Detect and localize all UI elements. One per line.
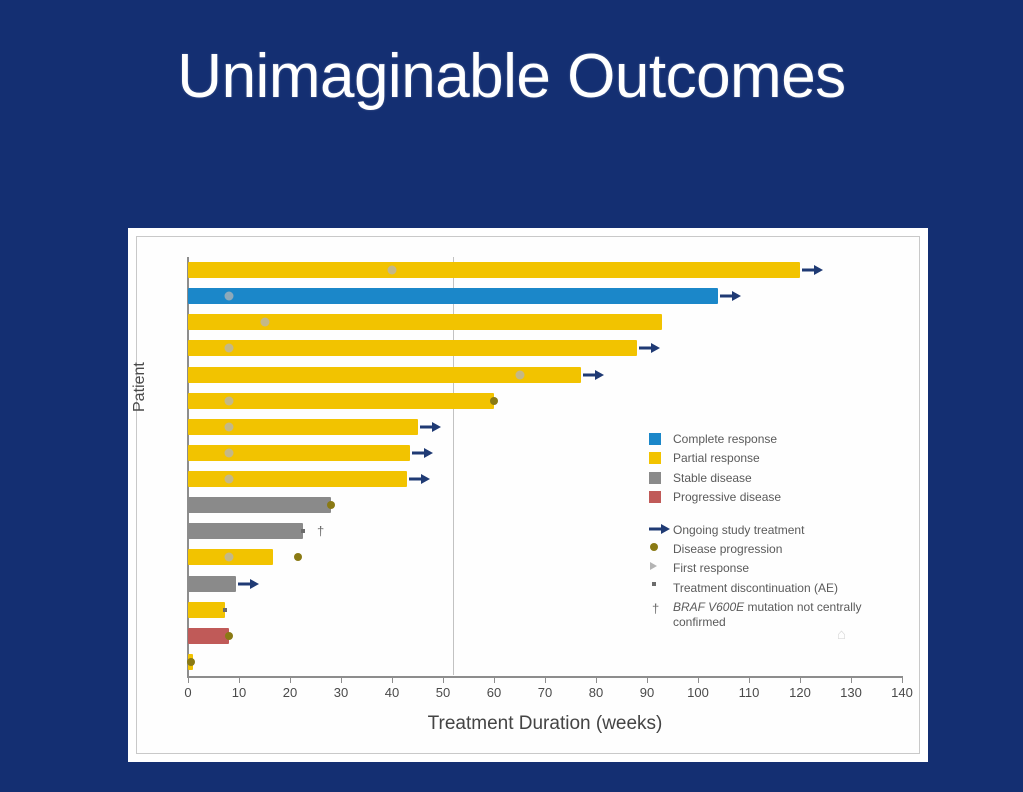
- x-axis-tick: [239, 678, 240, 683]
- ongoing-treatment-arrow-icon: [639, 343, 661, 353]
- legend-item-progressive: Progressive disease: [649, 490, 899, 504]
- bar-stable-response: [188, 576, 236, 592]
- bar-row: [188, 340, 902, 356]
- x-axis-tick-label: 40: [385, 685, 399, 700]
- ongoing-treatment-arrow-icon: [412, 448, 434, 458]
- legend-item-progression: Disease progression: [649, 542, 899, 556]
- disease-progression-marker-icon: [225, 632, 233, 640]
- legend-item-first-response: First response: [649, 561, 899, 575]
- bar-row: [188, 288, 902, 304]
- y-axis-title: Patient: [131, 362, 149, 412]
- x-axis-tick: [596, 678, 597, 683]
- ongoing-treatment-arrow-icon: [420, 422, 442, 432]
- ongoing-treatment-arrow-icon: [720, 291, 742, 301]
- x-axis-tick-label: 140: [891, 685, 913, 700]
- disease-progression-marker-icon: [187, 658, 195, 666]
- x-axis-tick-label: 120: [789, 685, 811, 700]
- x-axis-tick-label: 60: [487, 685, 501, 700]
- x-axis-tick-label: 80: [589, 685, 603, 700]
- first-response-marker-icon: [224, 422, 233, 431]
- legend-label: Partial response: [673, 451, 899, 465]
- ongoing-treatment-arrow-icon: [802, 265, 824, 275]
- legend-item-complete: Complete response: [649, 432, 899, 446]
- x-axis-tick-label: 90: [640, 685, 654, 700]
- x-axis-tick: [545, 678, 546, 683]
- bar-partial-response: [188, 419, 418, 435]
- legend-label: Stable disease: [673, 471, 899, 485]
- legend-marker-progression-icon: [649, 542, 673, 551]
- legend-item-ongoing: Ongoing study treatment: [649, 523, 899, 537]
- x-axis-tick: [647, 678, 648, 683]
- x-axis-tick: [800, 678, 801, 683]
- bar-row: [188, 393, 902, 409]
- legend-label: Complete response: [673, 432, 899, 446]
- first-response-marker-icon: [260, 318, 269, 327]
- x-axis-tick: [392, 678, 393, 683]
- bar-stable-response: [188, 523, 303, 539]
- legend-item-stable: Stable disease: [649, 471, 899, 485]
- legend-swatch-stable-icon: [649, 471, 673, 484]
- legend-label-italic: BRAF V600E: [673, 600, 744, 614]
- first-response-marker-icon: [224, 396, 233, 405]
- x-axis-tick: [188, 678, 189, 683]
- x-axis-tick-label: 70: [538, 685, 552, 700]
- figure-inner: † 0102030405060708090100110120130140 Tre…: [136, 236, 920, 754]
- bar-partial-response: [188, 602, 225, 618]
- bar-partial-response: [188, 445, 410, 461]
- first-response-marker-icon: [224, 344, 233, 353]
- x-axis-title: Treatment Duration (weeks): [187, 713, 903, 735]
- first-response-marker-icon: [224, 292, 233, 301]
- cursor-artifact: ⌂: [837, 626, 846, 643]
- braf-dagger-marker-icon: †: [317, 525, 324, 538]
- page-title: Unimaginable Outcomes: [0, 44, 1023, 109]
- x-axis-tick: [749, 678, 750, 683]
- x-axis-tick-label: 10: [232, 685, 246, 700]
- legend-swatch-complete-icon: [649, 432, 673, 445]
- ongoing-treatment-arrow-icon: [238, 579, 260, 589]
- chart-legend: Complete responsePartial responseStable …: [649, 432, 899, 634]
- disease-progression-marker-icon: [294, 553, 302, 561]
- x-axis-tick: [494, 678, 495, 683]
- x-axis-tick-label: 30: [334, 685, 348, 700]
- x-axis-tick: [851, 678, 852, 683]
- legend-label: Disease progression: [673, 542, 899, 556]
- x-axis-tick: [290, 678, 291, 683]
- treatment-discontinuation-marker-icon: [223, 608, 227, 612]
- bar-row: [188, 367, 902, 383]
- bar-progressive-response: [188, 628, 229, 644]
- first-response-marker-icon: [224, 475, 233, 484]
- bar-complete-response: [188, 288, 718, 304]
- bar-partial-response: [188, 340, 637, 356]
- legend-spacer: [649, 510, 899, 523]
- x-axis-tick-label: 0: [184, 685, 191, 700]
- bar-row: [188, 262, 902, 278]
- bar-partial-response: [188, 393, 494, 409]
- legend-swatch-partial-icon: [649, 451, 673, 464]
- first-response-marker-icon: [224, 448, 233, 457]
- legend-swatch-progressive-icon: [649, 490, 673, 503]
- legend-item-discontinuation: Treatment discontinuation (AE): [649, 581, 899, 595]
- x-axis-tick: [698, 678, 699, 683]
- legend-label: Ongoing study treatment: [673, 523, 899, 537]
- ongoing-treatment-arrow-icon: [409, 474, 431, 484]
- disease-progression-marker-icon: [327, 501, 335, 509]
- legend-marker-first-response-icon: [649, 561, 673, 570]
- first-response-marker-icon: [388, 266, 397, 275]
- legend-label: BRAF V600E mutation not centrally confir…: [673, 600, 899, 629]
- legend-marker-discontinuation-icon: [649, 581, 673, 586]
- disease-progression-marker-icon: [490, 397, 498, 405]
- bar-partial-response: [188, 262, 800, 278]
- x-axis-tick-label: 100: [687, 685, 709, 700]
- first-response-marker-icon: [224, 553, 233, 562]
- bar-partial-response: [188, 471, 407, 487]
- legend-item-partial: Partial response: [649, 451, 899, 465]
- legend-marker-ongoing-icon: [649, 523, 673, 534]
- legend-marker-dagger-icon: †: [649, 600, 673, 617]
- x-axis-tick-label: 20: [283, 685, 297, 700]
- x-axis-tick-label: 110: [739, 685, 760, 700]
- x-axis-tick: [443, 678, 444, 683]
- bar-stable-response: [188, 497, 331, 513]
- x-axis-tick: [902, 678, 903, 683]
- ongoing-treatment-arrow-icon: [583, 370, 605, 380]
- figure-panel: † 0102030405060708090100110120130140 Tre…: [128, 228, 928, 762]
- treatment-discontinuation-marker-icon: [301, 529, 305, 533]
- x-axis-tick-label: 130: [840, 685, 862, 700]
- bar-row: [188, 654, 902, 670]
- bar-row: [188, 314, 902, 330]
- x-axis-tick-label: 50: [436, 685, 450, 700]
- legend-label: Treatment discontinuation (AE): [673, 581, 899, 595]
- x-axis-tick: [341, 678, 342, 683]
- first-response-marker-icon: [515, 370, 524, 379]
- legend-label: Progressive disease: [673, 490, 899, 504]
- legend-label: First response: [673, 561, 899, 575]
- legend-item-dagger: †BRAF V600E mutation not centrally confi…: [649, 600, 899, 629]
